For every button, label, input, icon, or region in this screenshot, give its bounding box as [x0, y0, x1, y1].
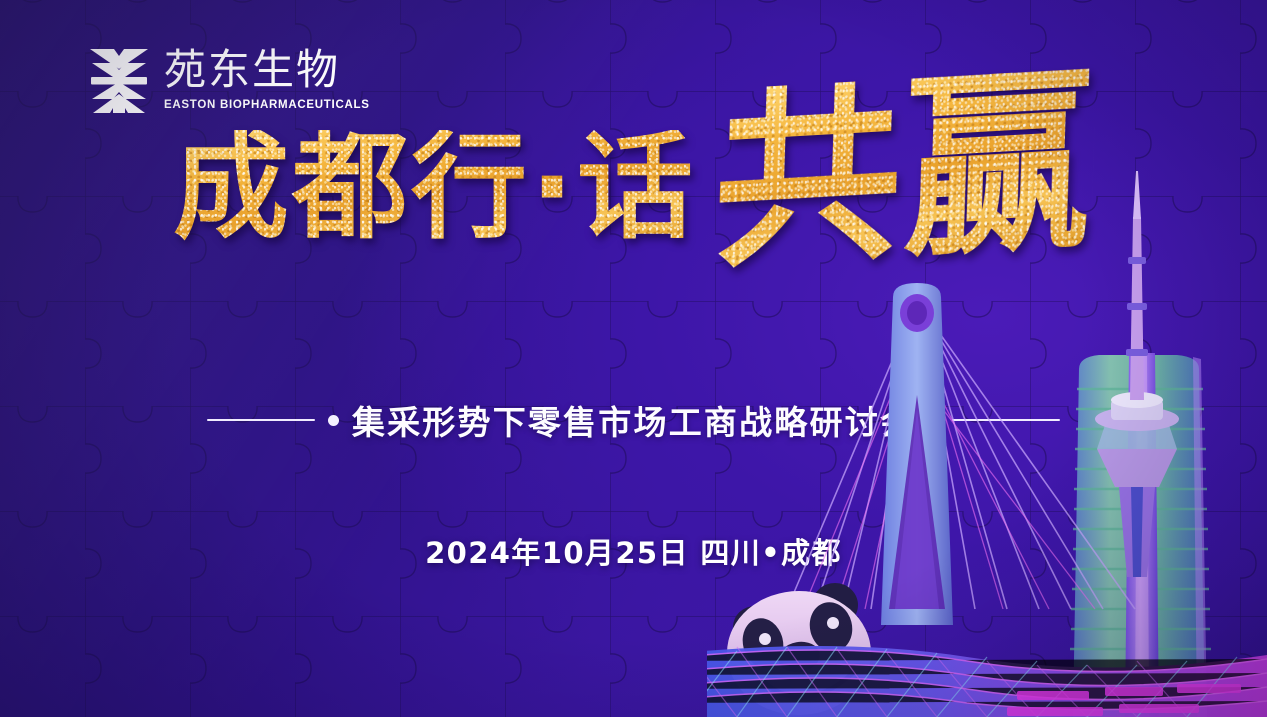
title-brush-text: 共赢 [712, 68, 1097, 269]
neon-lattice-deck-shape [707, 646, 1267, 717]
main-title: 成都行·话 共赢 [0, 128, 1267, 253]
event-poster: 苑东生物 EASTON BIOPHARMACEUTICALS 成都行·话 共赢 … [0, 0, 1267, 717]
subtitle-rule-right [952, 419, 1060, 422]
cable-stayed-bridge-shape [787, 283, 1135, 625]
logo-name-en: EASTON BIOPHARMACEUTICALS [164, 99, 370, 111]
title-block-text: 成都行·话 [173, 130, 696, 252]
company-logo: 苑东生物 EASTON BIOPHARMACEUTICALS [88, 46, 370, 116]
logo-name-cn: 苑东生物 [164, 49, 370, 92]
subtitle-dot-left [328, 415, 339, 426]
subtitle-dot-right [928, 415, 939, 426]
easton-arrow-mark-icon [88, 46, 150, 116]
panda-mascot-shape [707, 583, 939, 717]
subtitle-text: 集采形势下零售市场工商战略研讨会 [352, 396, 915, 444]
subtitle-rule-left [207, 419, 315, 422]
event-date-location: 2024年10月25日 四川•成都 [0, 530, 1267, 572]
subtitle-row: 集采形势下零售市场工商战略研讨会 [0, 396, 1267, 444]
